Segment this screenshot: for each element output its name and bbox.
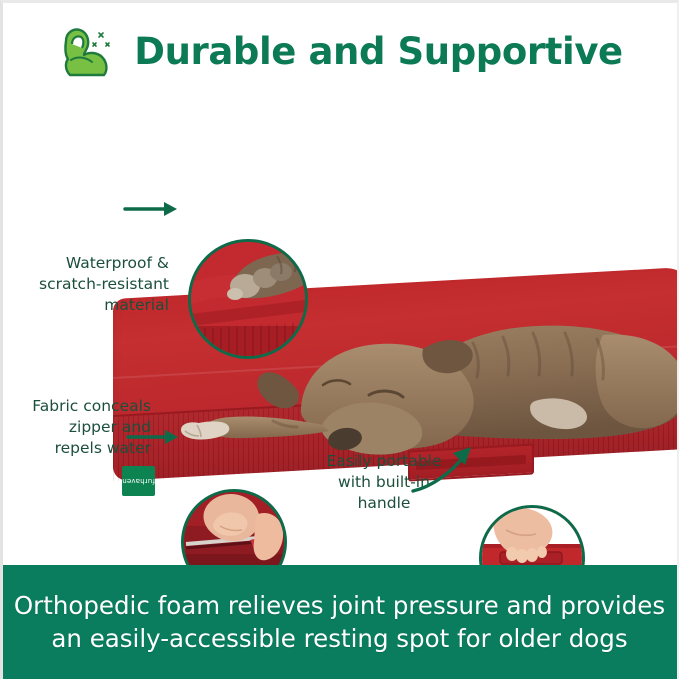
callout-line: Fabric conceals (11, 396, 151, 417)
arrow-up-right-icon-handle (407, 443, 477, 499)
footer-banner: Orthopedic foam relieves joint pressure … (0, 565, 679, 679)
infographic-canvas: Durable and Supportive (0, 0, 679, 679)
inset-concealed-zipper (181, 489, 287, 565)
callout-line: Waterproof & (19, 253, 169, 274)
callout-line: material (19, 295, 169, 316)
callout-line: scratch-resistant (19, 274, 169, 295)
callout-waterproof-text: Waterproof & scratch-resistant material (19, 253, 169, 316)
product-photo: furhaven (3, 103, 677, 565)
brand-tag: furhaven (122, 466, 155, 496)
footer-line: Orthopedic foam relieves joint pressure … (14, 589, 665, 622)
footer-line: an easily-accessible resting spot for ol… (51, 622, 627, 655)
arrow-right-icon-waterproof (123, 199, 181, 219)
brand-tag-label: furhaven (122, 478, 155, 485)
header: Durable and Supportive (0, 0, 679, 103)
inset-waterproof-material (188, 239, 308, 359)
inset-built-in-handle (479, 505, 585, 565)
page-title: Durable and Supportive (134, 30, 623, 73)
arrow-right-icon-zipper (126, 427, 182, 447)
flexed-bicep-icon (56, 21, 118, 83)
